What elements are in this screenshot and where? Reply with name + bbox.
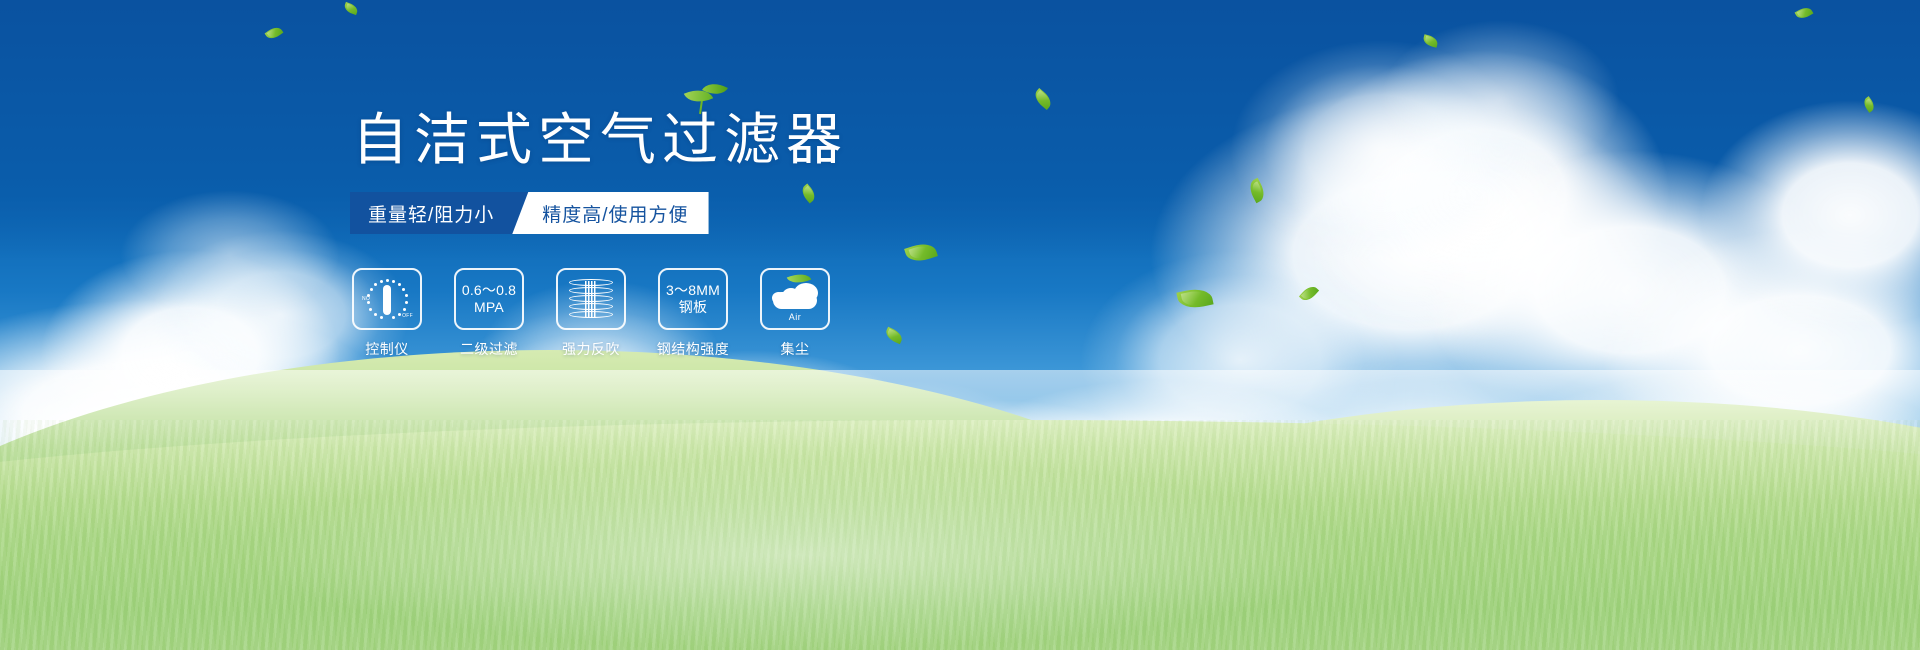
feature-two-stage-box: 0.6〜0.8 MPA [454, 268, 524, 330]
feature-steel-caption: 钢结构强度 [657, 339, 730, 359]
banner-title-wrap: 自洁式空气过滤器 [352, 112, 848, 168]
cloud-air-label: Air [789, 312, 802, 322]
feature-dust-caption: 集尘 [781, 339, 810, 359]
status-badge-light-weight: 重量轻/阻力小 [350, 192, 528, 234]
hero-banner: 自洁式空气过滤器 重量轻/阻力小 精度高/使用方便 [0, 0, 1920, 650]
feature-backblow-caption: 强力反吹 [562, 339, 620, 359]
feature-two-stage-line2: MPA [474, 299, 504, 316]
feature-steel-line1: 3〜8MM [666, 282, 720, 299]
cloud-icon [770, 277, 820, 311]
feature-two-stage-caption: 二级过滤 [460, 339, 518, 359]
feature-controller-caption: 控制仪 [365, 339, 409, 359]
page-title: 自洁式空气过滤器 [352, 112, 848, 168]
feature-two-stage[interactable]: 0.6〜0.8 MPA 二级过滤 [454, 268, 524, 359]
coil-icon [569, 277, 613, 321]
gauge-label-no: NO [362, 296, 370, 302]
feature-steel-line2: 钢板 [679, 299, 707, 316]
feature-backblow[interactable]: 强力反吹 [556, 268, 626, 359]
gauge-label-off: OFF [402, 313, 413, 319]
feature-dust[interactable]: Air 集尘 [760, 268, 830, 359]
status-badge-precision: 精度高/使用方便 [512, 192, 708, 234]
feature-steel[interactable]: 3〜8MM 钢板 钢结构强度 [658, 268, 728, 359]
feature-backblow-box [556, 268, 626, 330]
gauge-icon: NO OFF [364, 277, 410, 321]
feature-two-stage-line1: 0.6〜0.8 [462, 282, 516, 299]
feature-controller[interactable]: NO OFF 控制仪 [352, 268, 422, 359]
gauge-needle-icon [383, 285, 391, 315]
feature-steel-box: 3〜8MM 钢板 [658, 268, 728, 330]
feature-list: NO OFF 控制仪 0.6〜0.8 MPA 二级过滤 [352, 268, 830, 359]
feature-controller-box: NO OFF [352, 268, 422, 330]
badge-group: 重量轻/阻力小 精度高/使用方便 [350, 192, 709, 234]
feature-dust-box: Air [760, 268, 830, 330]
